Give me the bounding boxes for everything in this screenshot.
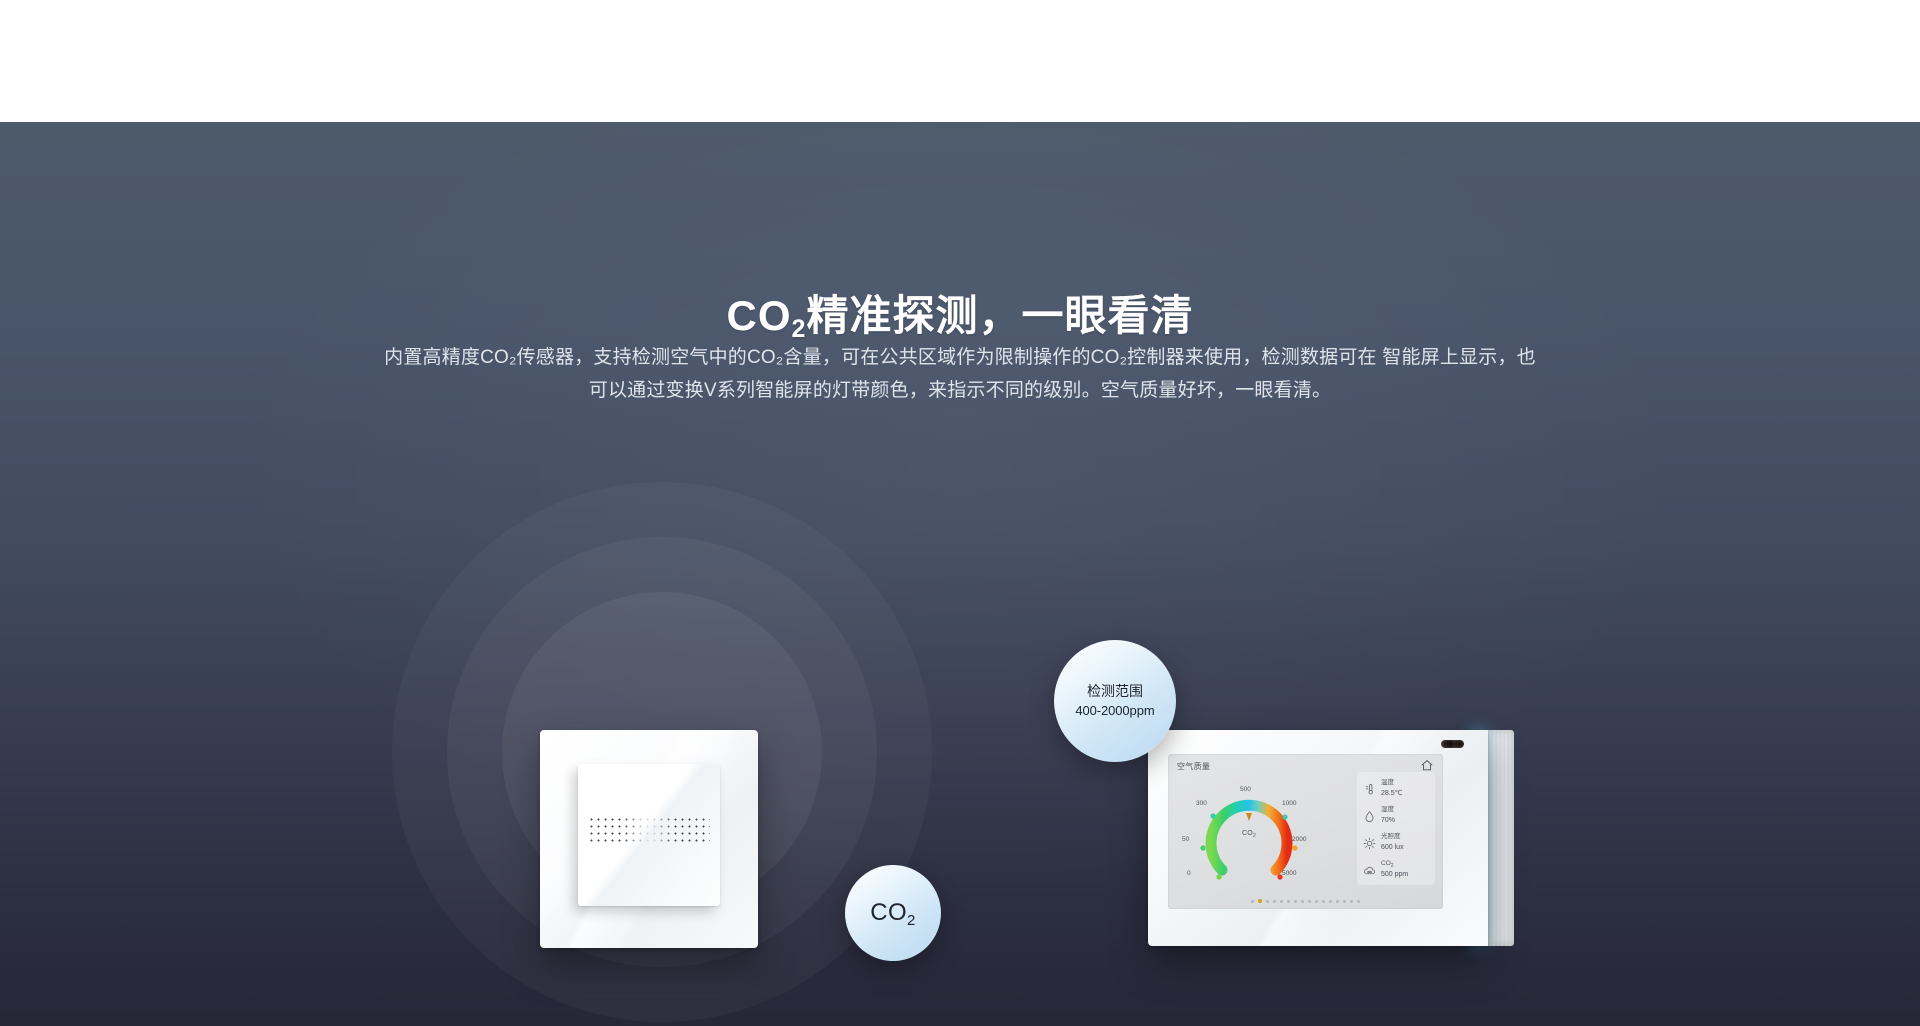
page-indicator-dot[interactable] <box>1357 900 1360 903</box>
page-description: 内置高精度CO₂传感器，支持检测空气中的CO₂含量，可在公共区域作为限制操作的C… <box>383 341 1538 407</box>
hero-section: CO2 检测范围 400-2000ppm 空气质量 <box>0 122 1920 1026</box>
page-indicator-dot[interactable] <box>1280 900 1283 903</box>
reading-co2-value: 500 ppm <box>1381 869 1435 880</box>
device-screen[interactable]: 空气质量 <box>1168 754 1443 909</box>
gauge-tick-1000: 1000 <box>1282 800 1296 807</box>
gauge-tick-300: 300 <box>1196 800 1207 807</box>
reading-co2-subscript: 2 <box>1391 863 1394 869</box>
top-white-band <box>0 0 1920 122</box>
smart-screen-device: 空气质量 <box>1148 730 1514 946</box>
page-root: CO2 检测范围 400-2000ppm 空气质量 <box>0 0 1920 1026</box>
page-indicator-dot[interactable] <box>1251 900 1254 903</box>
page-indicator-dot[interactable] <box>1294 900 1297 903</box>
reading-co2-label: CO2 <box>1381 859 1435 869</box>
device-front-body: 空气质量 <box>1148 730 1488 946</box>
reading-temperature-value: 28.5℃ <box>1381 788 1435 799</box>
page-description-line1: 内置高精度CO₂传感器，支持检测空气中的CO₂含量，可在公共区域作为限制操作的C… <box>384 347 1377 368</box>
detection-range-bubble: 检测范围 400-2000ppm <box>1054 640 1176 762</box>
page-title: CO2精准探测，一眼看清 <box>0 282 1920 343</box>
co2-bubble-subscript: 2 <box>907 912 916 929</box>
reading-illuminance: 光照度 600 lux <box>1357 832 1435 859</box>
page-title-subscript: 2 <box>792 315 807 343</box>
page-indicator-dot[interactable] <box>1343 900 1346 903</box>
reading-temperature: 温度 28.5℃ <box>1357 778 1435 805</box>
reading-temperature-label: 温度 <box>1381 778 1435 788</box>
page-indicator-dot[interactable] <box>1308 900 1311 903</box>
page-indicator-dot[interactable] <box>1301 900 1304 903</box>
gauge-tick-5000: 5000 <box>1282 870 1296 877</box>
sensor-readings-panel: 温度 28.5℃ 湿度 70% <box>1357 772 1435 885</box>
reading-illuminance-value: 600 lux <box>1381 842 1435 853</box>
co2-bubble: CO2 <box>845 865 941 961</box>
page-indicator-dot[interactable] <box>1273 900 1276 903</box>
page-indicator-dot[interactable] <box>1315 900 1318 903</box>
gauge-center-text: CO <box>1242 830 1253 837</box>
page-title-prefix: CO <box>727 292 792 339</box>
reading-illuminance-label: 光照度 <box>1381 832 1435 842</box>
sensor-grille-icon <box>588 816 710 843</box>
droplet-icon <box>1363 809 1376 824</box>
detection-range-value: 400-2000ppm <box>1075 701 1154 721</box>
co2-sensor-device <box>540 730 758 948</box>
sensor-inner-panel <box>578 764 720 906</box>
reading-humidity-value: 70% <box>1381 815 1435 826</box>
co2-gauge: CO2 0 50 300 500 1000 2000 5000 <box>1188 778 1310 890</box>
cloud-co2-icon <box>1363 863 1376 878</box>
home-icon[interactable] <box>1420 759 1434 772</box>
reading-co2: CO2 500 ppm <box>1357 859 1435 886</box>
page-indicator-dot[interactable] <box>1258 899 1262 903</box>
detection-range-title: 检测范围 <box>1087 681 1143 701</box>
page-indicator-dot[interactable] <box>1336 900 1339 903</box>
sun-icon <box>1363 836 1376 851</box>
gauge-tick-50: 50 <box>1182 836 1189 843</box>
co2-bubble-label: CO2 <box>870 899 916 927</box>
thermometer-icon <box>1363 782 1376 797</box>
co2-bubble-text: CO <box>870 899 907 926</box>
page-indicator-dot[interactable] <box>1266 900 1269 903</box>
page-title-rest: 精准探测，一眼看清 <box>806 292 1193 339</box>
gauge-tick-500: 500 <box>1240 786 1251 793</box>
device-side-panel <box>1484 730 1514 946</box>
gauge-tick-0: 0 <box>1187 870 1191 877</box>
page-indicator-dot[interactable] <box>1322 900 1325 903</box>
screen-title: 空气质量 <box>1177 761 1210 772</box>
page-indicator-dot[interactable] <box>1329 900 1332 903</box>
gauge-tick-2000: 2000 <box>1292 836 1306 843</box>
reading-humidity: 湿度 70% <box>1357 805 1435 832</box>
device-camera-sensor-icon <box>1441 740 1464 748</box>
reading-humidity-label: 湿度 <box>1381 805 1435 815</box>
page-indicator-dots[interactable] <box>1168 899 1443 903</box>
gauge-center-subscript: 2 <box>1253 833 1256 839</box>
page-indicator-dot[interactable] <box>1287 900 1290 903</box>
page-indicator-dot[interactable] <box>1350 900 1353 903</box>
